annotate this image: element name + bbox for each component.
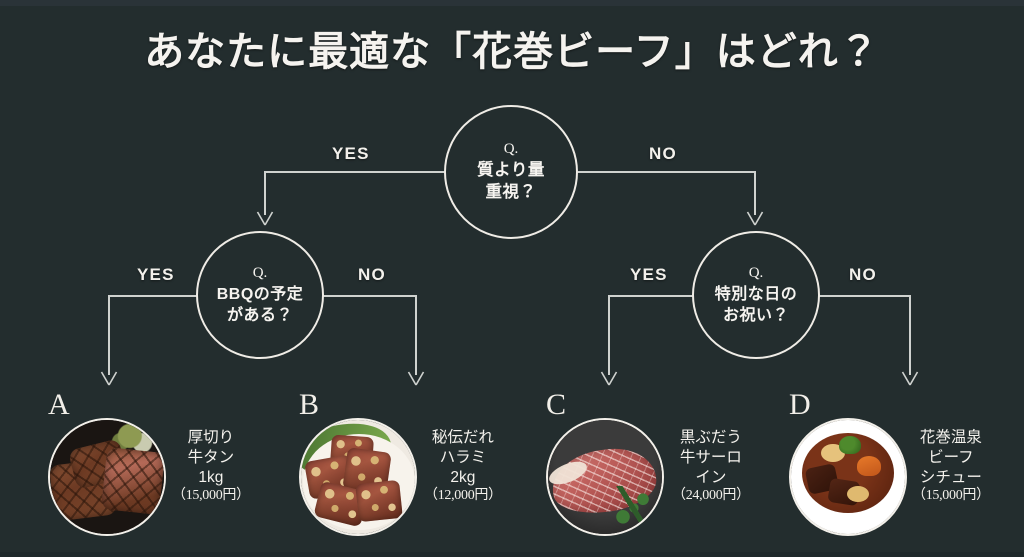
- edge-label-root-no: NO: [649, 145, 677, 162]
- connector-root-no-horizontal: [578, 171, 756, 173]
- result-d-line3: シチュー: [912, 468, 990, 488]
- decision-node-root-line1: 質より量: [477, 160, 545, 182]
- connector-root-yes-horizontal: [264, 171, 446, 173]
- result-caption-a: 厚切り 牛タン 1kg （15,000円）: [172, 428, 250, 505]
- grilled-beef-tongue-photo: [48, 418, 166, 536]
- beef-stew-bowl-photo: [789, 418, 907, 536]
- result-c-line3: イン: [672, 468, 750, 488]
- result-letter-b: B: [299, 390, 319, 420]
- marbled-sirloin-photo: [546, 418, 664, 536]
- result-c-price: （24,000円）: [672, 487, 750, 505]
- decision-node-celebration-line2: お祝い？: [723, 305, 789, 326]
- connector-right-no-horizontal: [818, 295, 910, 297]
- result-a-line3: 1kg: [172, 468, 250, 488]
- result-a-price: （15,000円）: [172, 487, 250, 505]
- connector-root-no-vertical: [754, 171, 756, 215]
- decision-node-bbq-line2: がある？: [227, 305, 293, 326]
- arrow-root-to-right-node: [746, 210, 764, 224]
- decision-node-root-line2: 重視？: [486, 182, 537, 204]
- arrow-left-to-result-a: [100, 370, 118, 384]
- decision-node-root-q: Q.: [504, 140, 519, 159]
- flowchart-canvas: あなたに最適な「花巻ビーフ」はどれ？ YES NO YES NO YES NO …: [0, 0, 1024, 557]
- result-d-line1: 花巻温泉: [912, 428, 990, 448]
- result-b-price: （12,000円）: [424, 487, 502, 505]
- edge-label-right-no: NO: [849, 266, 877, 283]
- arrow-right-to-result-d: [901, 370, 919, 384]
- page-title: あなたに最適な「花巻ビーフ」はどれ？: [0, 30, 1024, 74]
- connector-left-no-vertical: [415, 295, 417, 375]
- result-caption-c: 黒ぶだう 牛サーロ イン （24,000円）: [672, 428, 750, 505]
- connector-right-yes-horizontal: [608, 295, 694, 297]
- result-letter-a: A: [48, 390, 70, 420]
- result-d-price: （15,000円）: [912, 487, 990, 505]
- result-b-line3: 2kg: [424, 468, 502, 488]
- result-c-line1: 黒ぶだう: [672, 428, 750, 448]
- result-b-line1: 秘伝だれ: [424, 428, 502, 448]
- result-caption-d: 花巻温泉 ビーフ シチュー （15,000円）: [912, 428, 990, 505]
- edge-label-root-yes: YES: [332, 145, 370, 162]
- result-a-line2: 牛タン: [172, 448, 250, 468]
- arrow-right-to-result-c: [600, 370, 618, 384]
- arrow-root-to-left-node: [256, 210, 274, 224]
- edge-label-right-yes: YES: [630, 266, 668, 283]
- harami-with-sauce-photo: [299, 418, 417, 536]
- connector-root-yes-vertical: [264, 171, 266, 215]
- result-letter-c: C: [546, 390, 566, 420]
- edge-label-left-yes: YES: [137, 266, 175, 283]
- decision-node-celebration-line1: 特別な日の: [715, 284, 798, 305]
- connector-right-yes-vertical: [608, 295, 610, 375]
- connector-left-yes-horizontal: [108, 295, 198, 297]
- result-d-line2: ビーフ: [912, 448, 990, 468]
- result-letter-d: D: [789, 390, 811, 420]
- result-a-line1: 厚切り: [172, 428, 250, 448]
- connector-right-no-vertical: [909, 295, 911, 375]
- decision-node-root[interactable]: Q. 質より量 重視？: [444, 105, 578, 239]
- result-caption-b: 秘伝だれ ハラミ 2kg （12,000円）: [424, 428, 502, 505]
- decision-node-celebration[interactable]: Q. 特別な日の お祝い？: [692, 231, 820, 359]
- edge-label-left-no: NO: [358, 266, 386, 283]
- arrow-left-to-result-b: [407, 370, 425, 384]
- decision-node-celebration-q: Q.: [749, 264, 764, 283]
- decision-node-bbq-line1: BBQの予定: [217, 284, 304, 305]
- decision-node-bbq-q: Q.: [253, 264, 268, 283]
- result-b-line2: ハラミ: [424, 448, 502, 468]
- connector-left-yes-vertical: [108, 295, 110, 375]
- decision-node-bbq[interactable]: Q. BBQの予定 がある？: [196, 231, 324, 359]
- connector-left-no-horizontal: [322, 295, 416, 297]
- result-c-line2: 牛サーロ: [672, 448, 750, 468]
